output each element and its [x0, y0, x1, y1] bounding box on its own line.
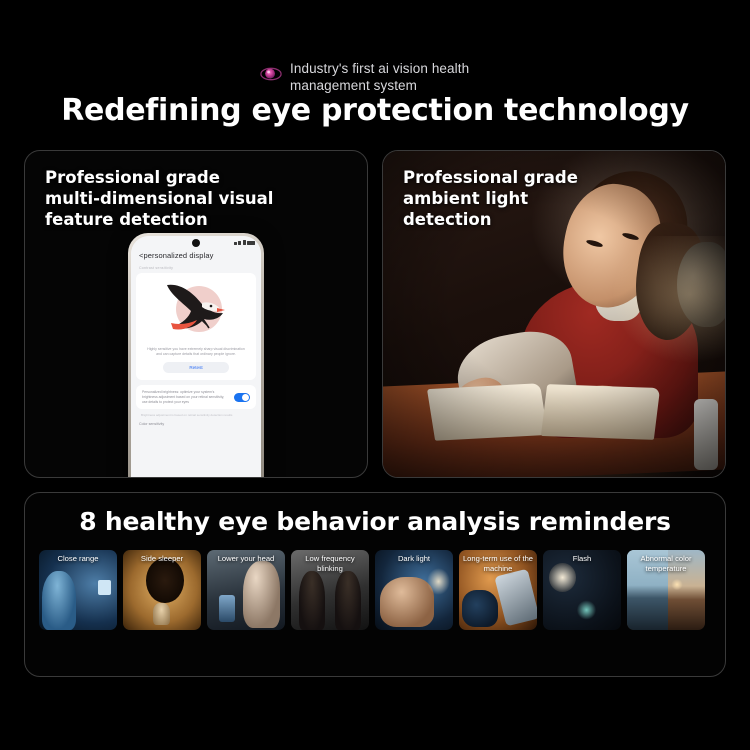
tile-label: Lower your head — [207, 554, 285, 564]
tile-label: Low frequency blinking — [291, 554, 369, 573]
reminder-tiles: Close range Side sleeper Lower your head… — [39, 550, 713, 630]
tile-label: Close range — [39, 554, 117, 564]
behavior-reminders-section: 8 healthy eye behavior analysis reminder… — [24, 492, 726, 677]
personalized-brightness-setting[interactable]: Personalized brightness: optimize your s… — [136, 385, 256, 409]
phone-screen: <personalized display Contrast sensitivi… — [131, 236, 261, 478]
tile-label: Long-term use of the machine — [459, 554, 537, 573]
reminder-tile[interactable]: Flash — [543, 550, 621, 630]
color-sensitivity-label: Color sensitivity — [131, 417, 261, 426]
tile-label: Flash — [543, 554, 621, 564]
reminder-tile[interactable]: Close range — [39, 550, 117, 630]
card-title: Professional grade multi-dimensional vis… — [45, 167, 273, 230]
phone-nav-title[interactable]: <personalized display — [131, 249, 261, 266]
reminder-tile[interactable]: Low frequency blinking — [291, 550, 369, 630]
eagle-illustration-icon — [142, 279, 250, 343]
brightness-toggle[interactable] — [234, 393, 250, 402]
promo-page: Industry's first ai vision health manage… — [0, 0, 750, 750]
reminder-tile[interactable]: Lower your head — [207, 550, 285, 630]
signal-icon — [238, 241, 241, 245]
phone-mockup: <personalized display Contrast sensitivi… — [128, 233, 264, 478]
page-title: Redefining eye protection technology — [0, 93, 750, 128]
signal-icon — [234, 242, 237, 245]
reminder-tile[interactable]: Side sleeper — [123, 550, 201, 630]
reminder-tile[interactable]: Dark light — [375, 550, 453, 630]
reminder-tile[interactable]: Abnormal color temperature — [627, 550, 705, 630]
camera-notch-icon — [192, 239, 200, 247]
tile-label: Dark light — [375, 554, 453, 564]
section-title: 8 healthy eye behavior analysis reminder… — [25, 507, 725, 536]
phone-status-bar — [131, 236, 261, 249]
tile-label: Abnormal color temperature — [627, 554, 705, 573]
card-ambient-light-detection[interactable]: Professional grade ambient light detecti… — [382, 150, 726, 478]
result-panel: Highly sensitive you have extremely shar… — [136, 273, 256, 380]
wifi-icon — [243, 240, 246, 245]
eyebrow-text: Industry's first ai vision health manage… — [290, 60, 490, 94]
status-icons — [234, 240, 256, 245]
setting-note: Brightness adjustment is based on retina… — [131, 409, 261, 417]
reminder-tile[interactable]: Long-term use of the machine — [459, 550, 537, 630]
contrast-sensitivity-label: Contrast sensitivity — [131, 266, 261, 273]
card-visual-feature-detection[interactable]: Professional grade multi-dimensional vis… — [24, 150, 368, 478]
tile-label: Side sleeper — [123, 554, 201, 564]
result-description: Highly sensitive you have extremely shar… — [142, 343, 250, 357]
setting-description: Personalized brightness: optimize your s… — [142, 390, 229, 404]
retest-button[interactable]: Retest — [163, 362, 229, 373]
battery-icon — [247, 241, 255, 245]
eye-icon — [260, 63, 282, 85]
eyebrow-row: Industry's first ai vision health manage… — [0, 60, 750, 94]
card-title: Professional grade ambient light detecti… — [403, 167, 578, 230]
